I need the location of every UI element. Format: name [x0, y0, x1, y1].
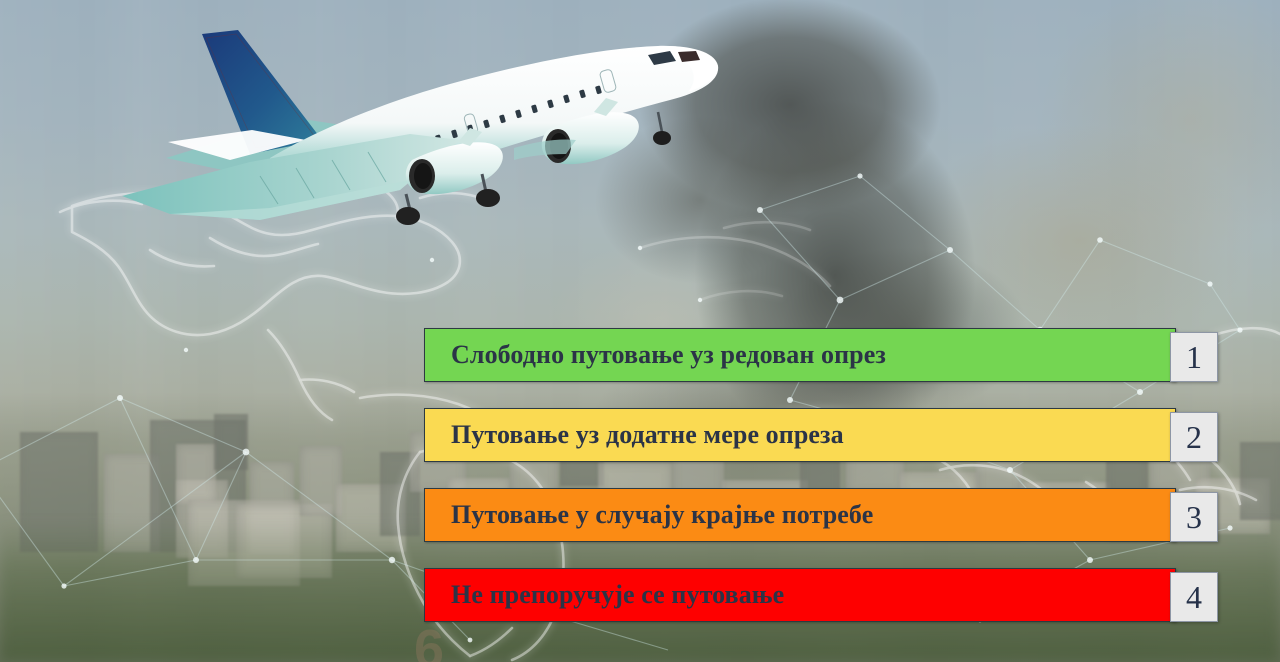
slide-canvas: 6 Слободно путовање уз редован опрез 1 П… — [0, 0, 1280, 662]
advisory-level-bar-3[interactable]: Путовање у случају крајње потребе — [424, 488, 1176, 542]
advisory-level-bar-1[interactable]: Слободно путовање уз редован опрез — [424, 328, 1176, 382]
advisory-level-bar-2[interactable]: Путовање уз додатне мере опреза — [424, 408, 1176, 462]
advisory-level-row-1[interactable]: Слободно путовање уз редован опрез 1 — [424, 328, 1220, 382]
advisory-level-number-2: 2 — [1170, 412, 1218, 462]
advisory-level-list: Слободно путовање уз редован опрез 1 Пут… — [424, 328, 1220, 622]
airplane-illustration — [110, 8, 750, 238]
advisory-level-number-1: 1 — [1170, 332, 1218, 382]
advisory-level-row-3[interactable]: Путовање у случају крајње потребе 3 — [424, 488, 1220, 542]
advisory-level-row-4[interactable]: Не препоручује се путовање 4 — [424, 568, 1220, 622]
advisory-level-number-4: 4 — [1170, 572, 1218, 622]
advisory-level-row-2[interactable]: Путовање уз додатне мере опреза 2 — [424, 408, 1220, 462]
advisory-level-bar-4[interactable]: Не препоручује се путовање — [424, 568, 1176, 622]
background-watermark: 6 — [414, 622, 444, 662]
advisory-level-label-1: Слободно путовање уз редован опрез — [425, 342, 886, 368]
advisory-level-label-3: Путовање у случају крајње потребе — [425, 502, 873, 528]
advisory-level-number-3: 3 — [1170, 492, 1218, 542]
advisory-level-label-2: Путовање уз додатне мере опреза — [425, 422, 844, 448]
advisory-level-label-4: Не препоручује се путовање — [425, 582, 784, 608]
